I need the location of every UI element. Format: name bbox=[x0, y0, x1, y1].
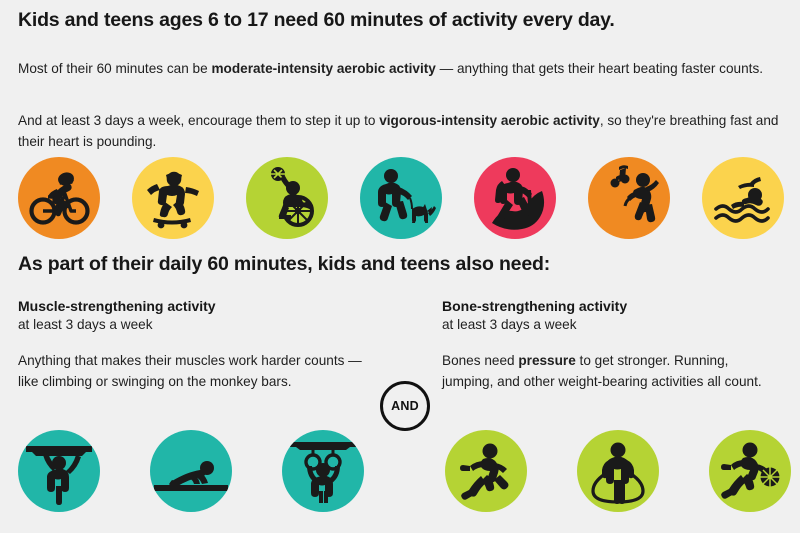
muscle-subtitle: at least 3 days a week bbox=[18, 317, 368, 332]
paragraph-vigorous-emphasis: vigorous-intensity aerobic activity bbox=[379, 113, 600, 128]
wheelchair-basketball-icon bbox=[246, 157, 328, 239]
jump-rope-icon bbox=[577, 430, 659, 512]
infographic-page: Kids and teens ages 6 to 17 need 60 minu… bbox=[0, 0, 800, 533]
bone-body-emphasis: pressure bbox=[518, 353, 575, 368]
gymnastic-rings-icon bbox=[282, 430, 364, 512]
section-title: As part of their daily 60 minutes, kids … bbox=[18, 253, 550, 276]
bone-subtitle: at least 3 days a week bbox=[442, 317, 782, 332]
bone-body: Bones need pressure to get stronger. Run… bbox=[442, 350, 782, 392]
basketball-icon bbox=[709, 430, 791, 512]
paragraph-vigorous-pre: And at least 3 days a week, encourage th… bbox=[18, 113, 379, 128]
aerobic-activity-icon-row bbox=[18, 157, 784, 239]
and-label: AND bbox=[391, 399, 419, 413]
hiking-icon bbox=[474, 157, 556, 239]
swimming-icon bbox=[702, 157, 784, 239]
skateboarding-icon bbox=[132, 157, 214, 239]
dancing-icon bbox=[588, 157, 670, 239]
running-icon bbox=[445, 430, 527, 512]
paragraph-vigorous: And at least 3 days a week, encourage th… bbox=[18, 110, 786, 152]
bone-strengthening-icon-row bbox=[445, 430, 791, 512]
muscle-title: Muscle-strengthening activity bbox=[18, 298, 368, 314]
paragraph-moderate: Most of their 60 minutes can be moderate… bbox=[18, 58, 786, 79]
bicycling-icon bbox=[18, 157, 100, 239]
muscle-strengthening-icon-row bbox=[18, 430, 364, 512]
paragraph-moderate-emphasis: moderate-intensity aerobic activity bbox=[211, 61, 435, 76]
paragraph-moderate-pre: Most of their 60 minutes can be bbox=[18, 61, 211, 76]
bone-strengthening-column: Bone-strengthening activity at least 3 d… bbox=[442, 298, 782, 392]
bone-title: Bone-strengthening activity bbox=[442, 298, 782, 314]
push-up-icon bbox=[150, 430, 232, 512]
dog-walking-icon bbox=[360, 157, 442, 239]
page-title: Kids and teens ages 6 to 17 need 60 minu… bbox=[18, 9, 615, 32]
muscle-strengthening-column: Muscle-strengthening activity at least 3… bbox=[18, 298, 368, 392]
paragraph-moderate-post: — anything that gets their heart beating… bbox=[436, 61, 763, 76]
bone-body-pre: Bones need bbox=[442, 353, 518, 368]
muscle-body: Anything that makes their muscles work h… bbox=[18, 350, 368, 392]
and-connector-badge: AND bbox=[380, 381, 430, 431]
monkey-bars-icon bbox=[18, 430, 100, 512]
